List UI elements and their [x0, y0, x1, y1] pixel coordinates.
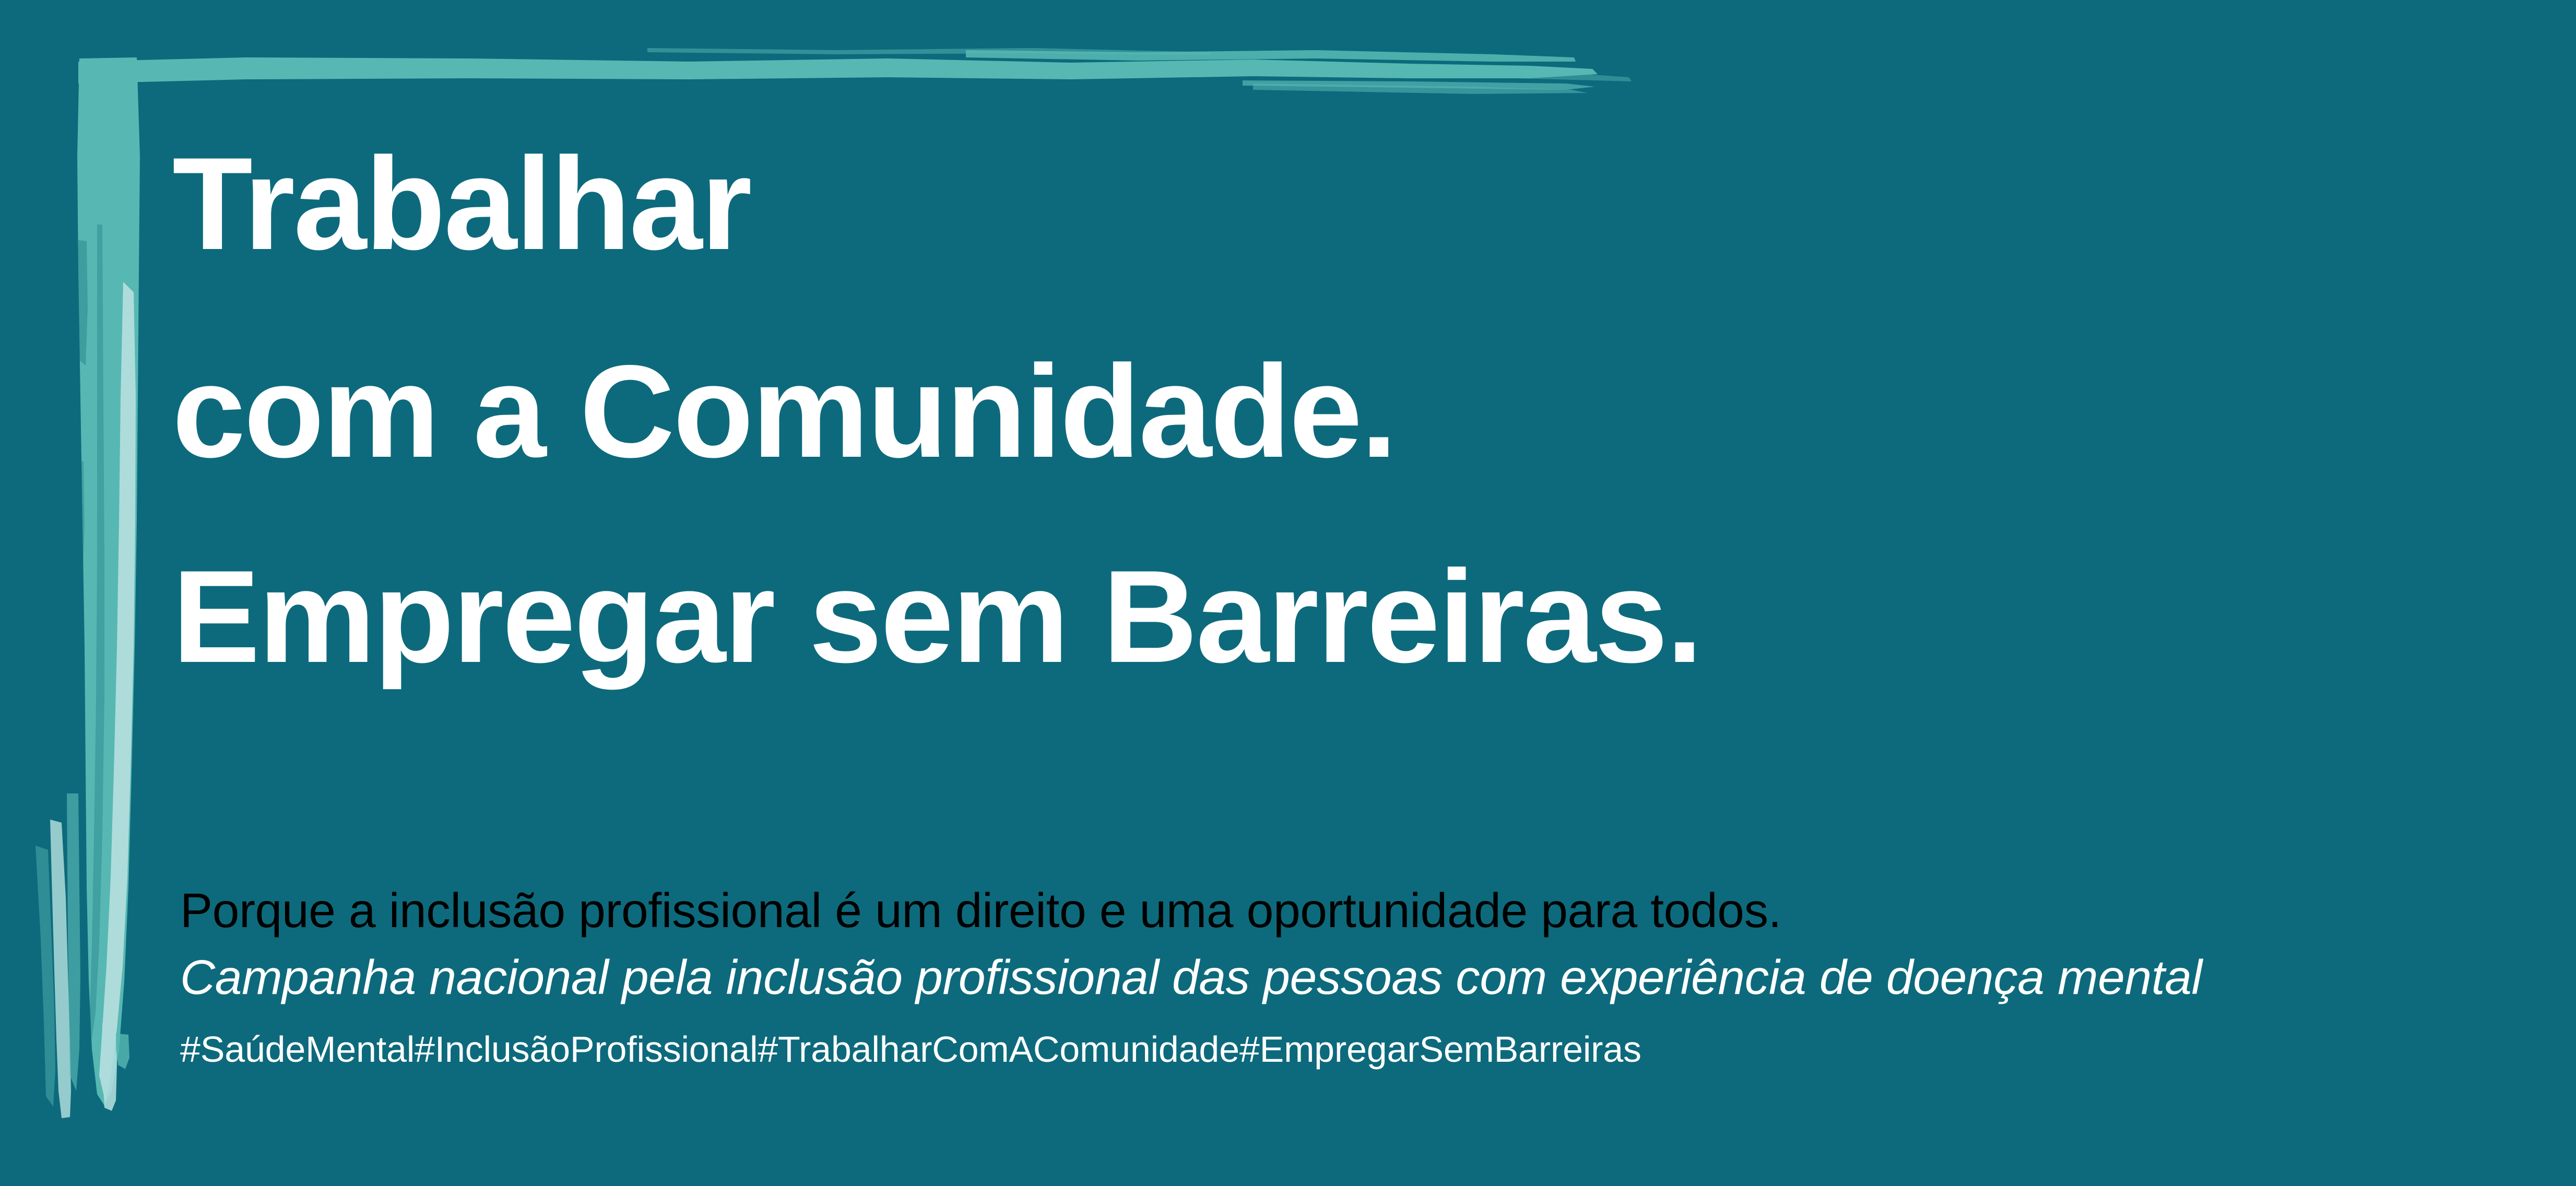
headline-line-1: Trabalhar [172, 121, 2469, 287]
subtitle-lead-text: Porque a inclusão profissional é um dire… [180, 883, 2530, 938]
brush-vertical-stroke [77, 57, 140, 1106]
brush-vertical-nick-b [75, 459, 85, 579]
brush-vertical-flick [116, 1034, 129, 1069]
brush-horizontal-wisp-c [1253, 84, 1587, 94]
brush-vertical-seam [90, 224, 104, 1039]
subtitle-block: Porque a inclusão profissional é um dire… [180, 883, 2530, 1070]
headline-block: Trabalhar com a Comunidade. Empregar sem… [172, 121, 2469, 700]
brush-horizontal-wisp-a [966, 50, 1576, 62]
brush-horizontal-stroke [78, 57, 1598, 84]
headline-line-3: Empregar sem Barreiras. [172, 534, 2469, 700]
headline-line-2: com a Comunidade. [172, 329, 2469, 495]
poster-canvas: Trabalhar com a Comunidade. Empregar sem… [0, 0, 2576, 1186]
brush-vertical-nick-a [77, 240, 88, 365]
hashtag-line: #SaúdeMental#InclusãoProfissional#Trabal… [180, 1029, 2530, 1070]
brush-vertical-highlight-secondary [50, 820, 71, 1118]
subtitle-campaign-text: Campanha nacional pela inclusão profissi… [180, 950, 2530, 1004]
brush-vertical-highlight [99, 282, 136, 1102]
brush-vertical-wisp-right [102, 1023, 117, 1111]
brush-vertical-tail-left [36, 846, 55, 1107]
brush-horizontal-wisp-d [647, 48, 1211, 55]
brush-horizontal-wisp-b [1243, 80, 1595, 90]
brush-vertical-wisp-left [67, 793, 80, 1091]
brush-horizontal-wisp-e [1389, 69, 1632, 81]
